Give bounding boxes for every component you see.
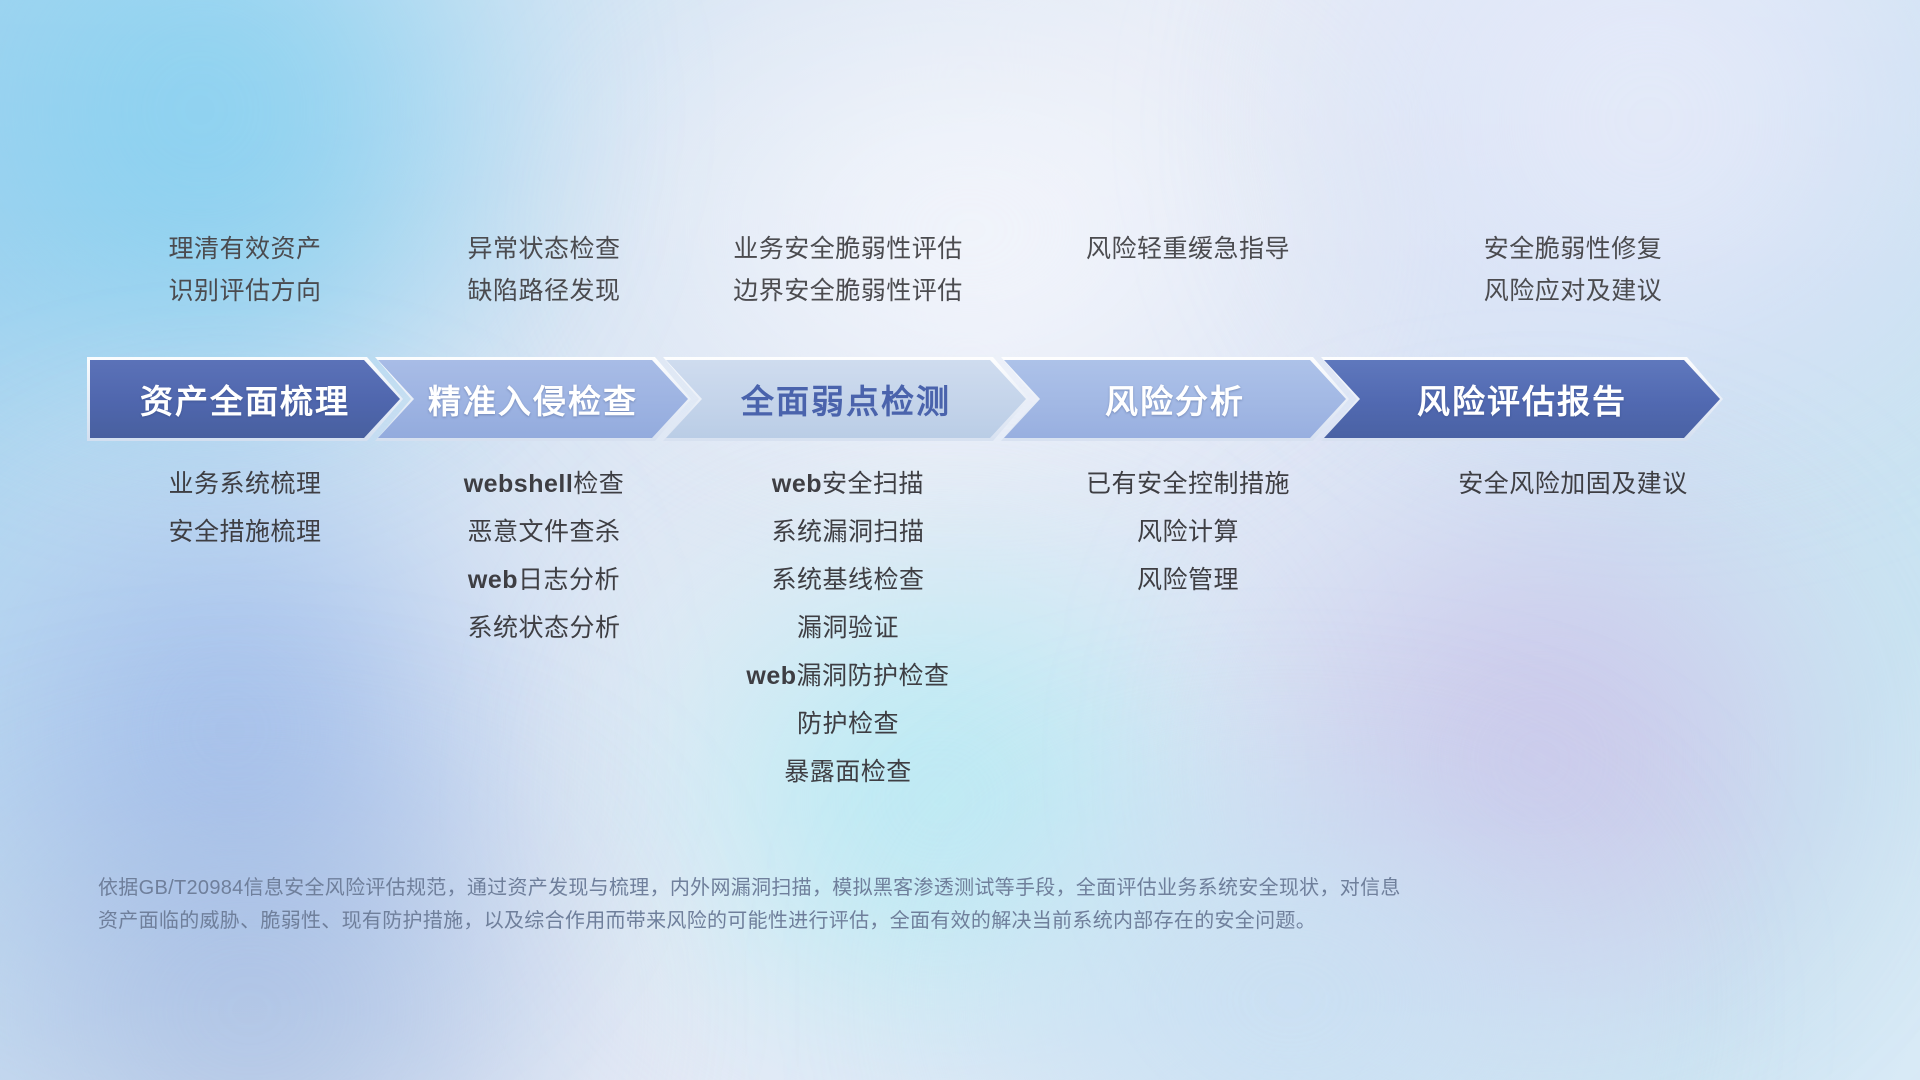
footer-line: 资产面临的威胁、脆弱性、现有防护措施，以及综合作用而带来风险的可能性进行评估，全… — [98, 905, 1608, 938]
list-item: 业务系统梳理 — [90, 460, 400, 508]
detail-list-risk-report: 安全风险加固及建议 — [1368, 460, 1778, 508]
process-arrow-band: 资产全面梳理 精准入侵检查 全面弱点检测 风险分析 风险评估报告 — [90, 360, 1842, 438]
list-item-text: 业务系统梳理 — [168, 470, 321, 498]
stage-label: 风险分析 — [1105, 375, 1245, 423]
list-item-text: 已有安全控制措施 — [1086, 470, 1290, 498]
top-caption-group-5: 安全脆弱性修复 风险应对及建议 — [1368, 228, 1778, 312]
list-item: webshell检查 — [400, 460, 688, 508]
list-item-emphasis: webshell — [464, 470, 574, 498]
list-item-text: 暴露面检查 — [784, 758, 912, 786]
stage-arrow-risk-report[interactable]: 风险评估报告 — [1324, 360, 1720, 438]
detail-list-risk-analysis: 已有安全控制措施 风险计算 风险管理 — [1008, 460, 1368, 604]
stage-arrow-intrusion-check[interactable]: 精准入侵检查 — [378, 360, 688, 438]
list-item-text: 安全风险加固及建议 — [1458, 470, 1688, 498]
top-caption-group-1: 理清有效资产 识别评估方向 — [90, 228, 400, 312]
list-item-text: 安全扫描 — [822, 470, 924, 498]
list-item: 防护检查 — [688, 700, 1008, 748]
top-caption-group-2: 异常状态检查 缺陷路径发现 — [400, 228, 688, 312]
stage-arrow-risk-analysis[interactable]: 风险分析 — [1004, 360, 1346, 438]
list-item: 系统状态分析 — [400, 604, 688, 652]
footer-line: 依据GB/T20984信息安全风险评估规范，通过资产发现与梳理，内外网漏洞扫描，… — [98, 872, 1608, 905]
list-item-text: 防护检查 — [797, 710, 899, 738]
top-caption-line: 风险应对及建议 — [1368, 270, 1778, 312]
list-item: web漏洞防护检查 — [688, 652, 1008, 700]
list-item-text: 系统基线检查 — [771, 566, 924, 594]
list-item-text: 漏洞防护检查 — [797, 662, 950, 690]
stage-arrow-asset-inventory[interactable]: 资产全面梳理 — [90, 360, 400, 438]
top-caption-line: 安全脆弱性修复 — [1368, 228, 1778, 270]
list-item: 暴露面检查 — [688, 748, 1008, 796]
list-item: 安全措施梳理 — [90, 508, 400, 556]
detail-list-weakness-detection: web安全扫描 系统漏洞扫描 系统基线检查 漏洞验证 web漏洞防护检查 防护检… — [688, 460, 1008, 796]
detail-list-asset-inventory: 业务系统梳理 安全措施梳理 — [90, 460, 400, 556]
stage-arrow-weakness-detection[interactable]: 全面弱点检测 — [666, 360, 1026, 438]
top-caption-line: 业务安全脆弱性评估 — [688, 228, 1008, 270]
top-caption-group-3: 业务安全脆弱性评估 边界安全脆弱性评估 — [688, 228, 1008, 312]
list-item: 系统基线检查 — [688, 556, 1008, 604]
list-item-emphasis: web — [468, 566, 518, 594]
list-item: 已有安全控制措施 — [1008, 460, 1368, 508]
list-item-text: 安全措施梳理 — [168, 518, 321, 546]
list-item-text: 漏洞验证 — [797, 614, 899, 642]
top-caption-line: 理清有效资产 — [90, 228, 400, 270]
slide-canvas: 理清有效资产 识别评估方向 异常状态检查 缺陷路径发现 业务安全脆弱性评估 边界… — [0, 0, 1920, 1080]
list-item: 安全风险加固及建议 — [1368, 460, 1778, 508]
top-caption-line: 识别评估方向 — [90, 270, 400, 312]
list-item-text: 风险管理 — [1137, 566, 1239, 594]
list-item-emphasis: web — [746, 662, 796, 690]
footer-description: 依据GB/T20984信息安全风险评估规范，通过资产发现与梳理，内外网漏洞扫描，… — [98, 872, 1608, 938]
top-caption-group-4: 风险轻重缓急指导 — [1008, 228, 1368, 312]
list-item: 恶意文件查杀 — [400, 508, 688, 556]
diagram-content: 理清有效资产 识别评估方向 异常状态检查 缺陷路径发现 业务安全脆弱性评估 边界… — [0, 0, 1920, 1080]
detail-list-intrusion-check: webshell检查 恶意文件查杀 web日志分析 系统状态分析 — [400, 460, 688, 652]
list-item: web日志分析 — [400, 556, 688, 604]
top-caption-line: 异常状态检查 — [400, 228, 688, 270]
list-item-text: 日志分析 — [518, 566, 620, 594]
top-caption-line: 风险轻重缓急指导 — [1008, 228, 1368, 270]
list-item-text: 检查 — [573, 470, 624, 498]
bottom-detail-row: 业务系统梳理 安全措施梳理 webshell检查 恶意文件查杀 web日志分析 … — [90, 460, 1840, 796]
stage-label: 精准入侵检查 — [428, 375, 638, 423]
list-item-text: 系统状态分析 — [467, 614, 620, 642]
list-item: 系统漏洞扫描 — [688, 508, 1008, 556]
top-caption-line: 边界安全脆弱性评估 — [688, 270, 1008, 312]
top-caption-row: 理清有效资产 识别评估方向 异常状态检查 缺陷路径发现 业务安全脆弱性评估 边界… — [90, 228, 1840, 312]
list-item: 漏洞验证 — [688, 604, 1008, 652]
stage-label: 风险评估报告 — [1417, 375, 1627, 423]
list-item: web安全扫描 — [688, 460, 1008, 508]
list-item: 风险计算 — [1008, 508, 1368, 556]
list-item: 风险管理 — [1008, 556, 1368, 604]
list-item-text: 风险计算 — [1137, 518, 1239, 546]
list-item-text: 系统漏洞扫描 — [771, 518, 924, 546]
list-item-emphasis: web — [772, 470, 822, 498]
stage-label: 全面弱点检测 — [741, 375, 951, 423]
list-item-text: 恶意文件查杀 — [467, 518, 620, 546]
top-caption-line: 缺陷路径发现 — [400, 270, 688, 312]
stage-label: 资产全面梳理 — [140, 375, 350, 423]
